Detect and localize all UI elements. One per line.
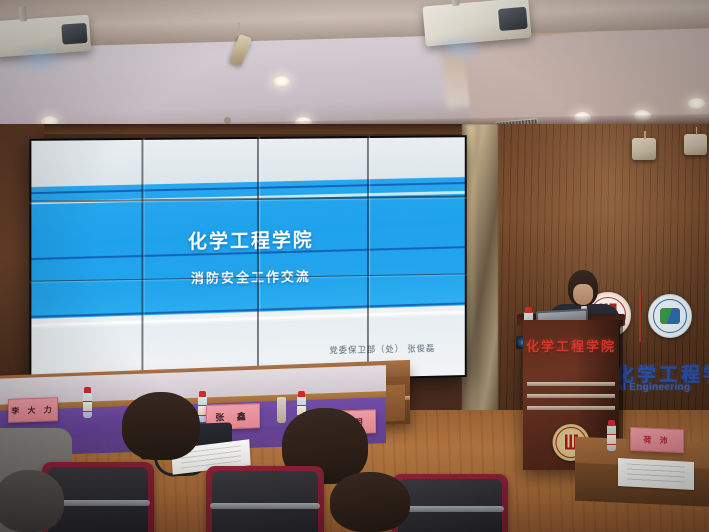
placard-name: 张 鑫 bbox=[215, 409, 251, 423]
projector-lens bbox=[61, 23, 87, 45]
name-placard-1: 李 大 力 bbox=[8, 397, 58, 423]
water-bottle-1 bbox=[83, 392, 92, 418]
projector-mount bbox=[19, 6, 27, 21]
lectern-stripe bbox=[527, 394, 615, 398]
projector-left-glow bbox=[14, 48, 68, 74]
audience-head bbox=[0, 470, 64, 532]
bottle-cap bbox=[608, 420, 615, 426]
name-placard-4: 荷 沛 bbox=[630, 427, 684, 453]
placard-name: 李 大 力 bbox=[11, 404, 54, 417]
lectern-stripe bbox=[527, 382, 615, 386]
projector-lens bbox=[498, 6, 527, 31]
lectern-stripe bbox=[527, 406, 615, 410]
emblem-mark bbox=[660, 308, 680, 324]
bottle-label bbox=[83, 401, 92, 412]
school-of-chemical-engineering-emblem bbox=[648, 294, 692, 338]
wall-speaker-right bbox=[684, 134, 707, 155]
presentation-slide: 化学工程学院 消防安全工作交流 党委保卫部（处） 张俊磊 bbox=[31, 137, 464, 385]
lectern-label: 化学工程学院 bbox=[523, 336, 619, 355]
videowall-bezel bbox=[367, 136, 369, 379]
wall-speaker-left bbox=[632, 138, 656, 160]
audience-head bbox=[330, 472, 410, 532]
chair-backrest bbox=[212, 471, 318, 532]
ceiling bbox=[0, 0, 709, 132]
water-bottle-4 bbox=[607, 425, 616, 451]
slide-footer-credit: 党委保卫部（处） 张俊磊 bbox=[329, 342, 435, 356]
chair-bar bbox=[210, 503, 320, 509]
bottle-label bbox=[607, 434, 616, 445]
bottle-cap bbox=[298, 391, 305, 397]
presenter-face bbox=[573, 284, 593, 305]
videowall-bezel bbox=[142, 138, 144, 385]
downlight bbox=[688, 98, 705, 109]
document-text-lines bbox=[627, 464, 685, 485]
audience-member-3 bbox=[330, 472, 416, 532]
videowall-bezel bbox=[257, 137, 259, 382]
audience-head bbox=[122, 392, 200, 460]
bottle-cap bbox=[84, 387, 91, 393]
conference-room-photo: 四川大学化学工程学院 School of Chemical Engineerin… bbox=[0, 0, 709, 532]
placard-name: 荷 沛 bbox=[643, 434, 670, 446]
audience-member-4 bbox=[0, 470, 70, 532]
projector-mount bbox=[451, 0, 459, 6]
presenter-head bbox=[568, 270, 598, 306]
video-wall-display[interactable]: 化学工程学院 消防安全工作交流 党委保卫部（处） 张俊磊 bbox=[29, 135, 466, 387]
downlight bbox=[273, 76, 290, 87]
projector-right-glow bbox=[432, 38, 486, 64]
sign-divider bbox=[639, 290, 641, 342]
document-on-side-desk bbox=[618, 458, 694, 490]
bottle-cap bbox=[525, 307, 532, 313]
audience-chair-2[interactable] bbox=[206, 466, 324, 532]
marble-column bbox=[462, 124, 498, 424]
